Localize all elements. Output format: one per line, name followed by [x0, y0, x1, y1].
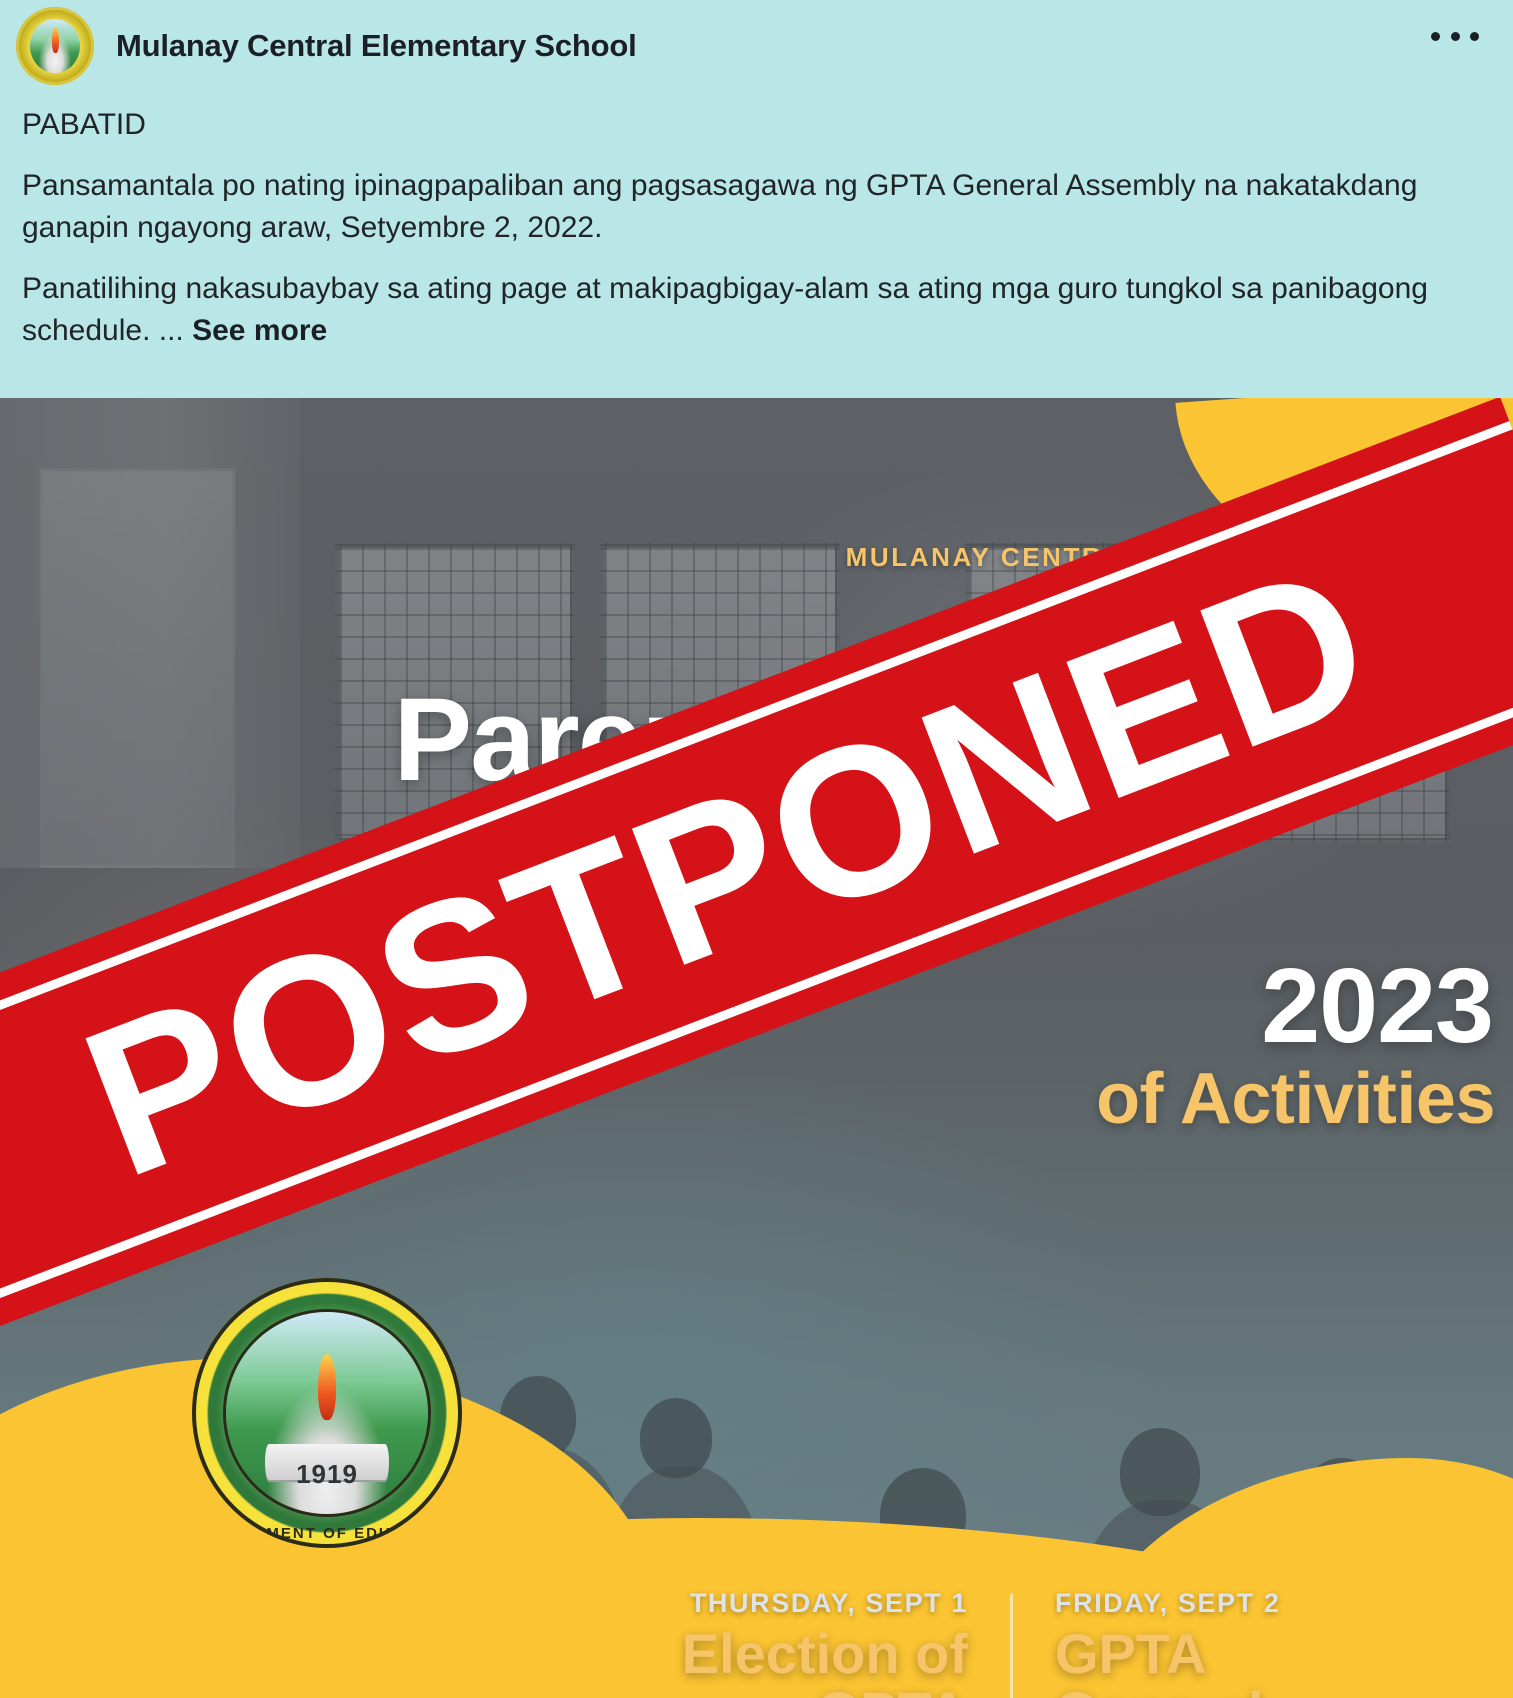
deped-seal-year: 1919: [192, 1459, 462, 1490]
torch-flame-icon: [318, 1354, 336, 1420]
post-body: PABATID Pansamantala po nating ipinagpap…: [22, 104, 1442, 353]
deped-seal-icon: 1919 DEPARTMENT OF EDUCATION: [192, 1278, 462, 1548]
deped-seal-arc-text: DEPARTMENT OF EDUCATION: [192, 1525, 462, 1542]
post-paragraph-2-wrapper: Panatilihing nakasubaybay sa ating page …: [22, 268, 1442, 353]
schedule-item-thursday: THURSDAY, SEPT 1 Election of GPTA Office…: [600, 1588, 1010, 1698]
schedule-title: GPTA General Assembly: [1055, 1625, 1423, 1698]
post-header: Mulanay Central Elementary School: [16, 0, 637, 92]
post-container: Mulanay Central Elementary School PABATI…: [0, 0, 1513, 432]
facebook-post-screenshot: Mulanay Central Elementary School PABATI…: [0, 0, 1513, 1698]
poster-subtitle: of Activities: [1096, 1058, 1495, 1140]
post-heading: PABATID: [22, 104, 1442, 147]
school-seal-avatar[interactable]: [16, 7, 94, 85]
dot-3: [1470, 32, 1479, 41]
post-paragraph-1: Pansamantala po nating ipinagpapaliban a…: [22, 165, 1442, 250]
ellipsis-horizontal-icon[interactable]: [1427, 16, 1483, 56]
schedule-day: FRIDAY, SEPT 2: [1055, 1588, 1423, 1619]
dot-2: [1451, 32, 1460, 41]
schedule-row: THURSDAY, SEPT 1 Election of GPTA Office…: [600, 1588, 1498, 1698]
door-shape: [40, 468, 235, 868]
see-more-link[interactable]: See more: [192, 314, 327, 347]
schedule-title-line-1: Election of: [600, 1625, 968, 1683]
schedule-item-friday: FRIDAY, SEPT 2 GPTA General Assembly In …: [1013, 1588, 1423, 1698]
schedule-day: THURSDAY, SEPT 1: [600, 1588, 968, 1619]
schedule-title: Election of GPTA Officers: [600, 1625, 968, 1698]
page-name[interactable]: Mulanay Central Elementary School: [116, 28, 637, 64]
dot-1: [1431, 32, 1440, 41]
post-image-poster[interactable]: MULANAY CENTRAL ELEMENTARY SCHOOL Genera…: [0, 398, 1513, 1698]
poster-year: 2023: [1261, 946, 1493, 1067]
schedule-title-line-1: GPTA General: [1055, 1625, 1423, 1698]
